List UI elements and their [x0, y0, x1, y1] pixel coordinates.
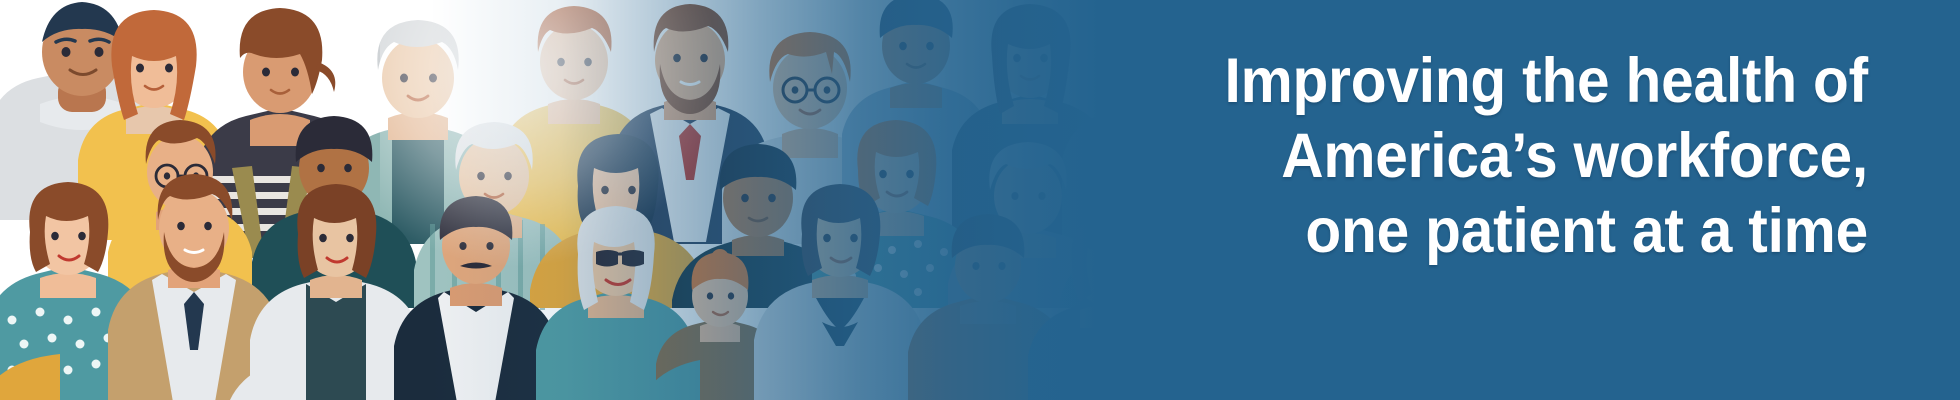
headline-line-1: Improving the health of — [882, 44, 1868, 119]
headline-line-3: one patient at a time — [882, 194, 1868, 269]
workforce-health-banner: Improving the health of America’s workfo… — [0, 0, 1960, 400]
headline-line-2: America’s workforce, — [882, 119, 1868, 194]
headline: Improving the health of America’s workfo… — [882, 44, 1868, 269]
